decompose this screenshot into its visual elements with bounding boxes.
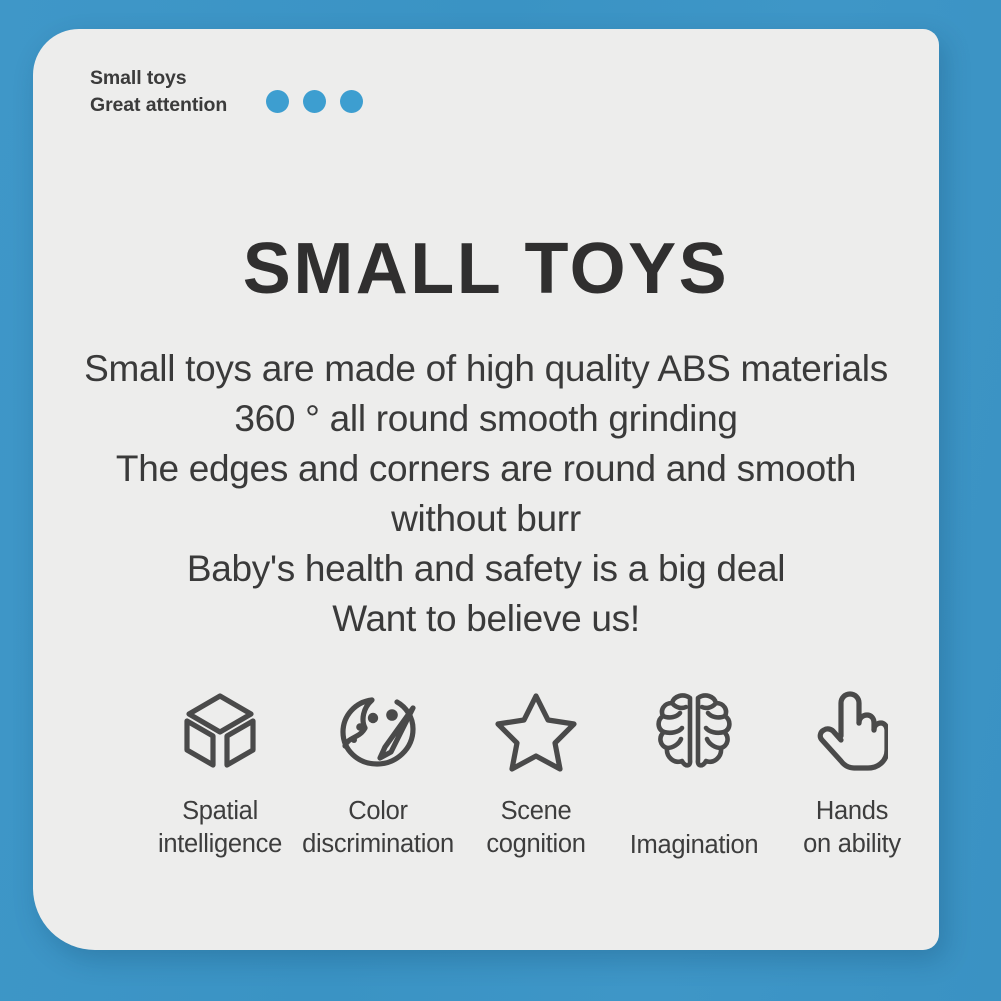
header-tagline: Small toys Great attention xyxy=(90,65,227,119)
feature-label-spatial-intelligence: Spatial intelligence xyxy=(158,795,282,861)
header-dots xyxy=(266,90,363,113)
feature-label-line1: Hands xyxy=(803,795,901,828)
description-line-4: without burr xyxy=(33,494,939,544)
feature-list: Spatial intelligence xyxy=(141,689,931,862)
feature-label-scene-cognition: Scene cognition xyxy=(486,795,585,861)
poster-canvas: Small toys Great attention SMALL TOYS Sm… xyxy=(0,0,1001,1001)
feature-label-color-discrimination: Color discrimination xyxy=(302,795,454,861)
feature-item-scene-cognition: Scene cognition xyxy=(457,689,615,861)
description-line-3: The edges and corners are round and smoo… xyxy=(33,444,939,494)
feature-label-line2: intelligence xyxy=(158,828,282,861)
star-icon xyxy=(493,689,579,773)
feature-item-hands-on-ability: Hands on ability xyxy=(773,689,931,861)
feature-label-line1: Color xyxy=(302,795,454,828)
description-block: Small toys are made of high quality ABS … xyxy=(33,344,939,644)
description-line-1: Small toys are made of high quality ABS … xyxy=(33,344,939,394)
feature-label-line2: on ability xyxy=(803,828,901,861)
content-card: Small toys Great attention SMALL TOYS Sm… xyxy=(33,29,939,950)
feature-item-color-discrimination: Color discrimination xyxy=(299,689,457,861)
description-line-6: Want to believe us! xyxy=(33,594,939,644)
header-tagline-line1: Small toys xyxy=(90,65,227,92)
card-header: Small toys Great attention xyxy=(90,65,363,119)
cube-icon xyxy=(179,689,261,773)
dot-3-icon xyxy=(340,90,363,113)
description-line-5: Baby's health and safety is a big deal xyxy=(33,544,939,594)
dot-1-icon xyxy=(266,90,289,113)
description-line-2: 360 ° all round smooth grinding xyxy=(33,394,939,444)
brain-icon xyxy=(655,689,733,773)
feature-label-line1: Scene xyxy=(486,795,585,828)
feature-label-imagination: Imagination xyxy=(630,829,759,862)
feature-item-spatial-intelligence: Spatial intelligence xyxy=(141,689,299,861)
header-tagline-line2: Great attention xyxy=(90,92,227,119)
feature-label-hands-on-ability: Hands on ability xyxy=(803,795,901,861)
feature-label-line1: Spatial xyxy=(158,795,282,828)
feature-label-line2: discrimination xyxy=(302,828,454,861)
feature-label-line1: Imagination xyxy=(630,829,759,862)
feature-label-line2: cognition xyxy=(486,828,585,861)
feature-item-imagination: Imagination xyxy=(615,689,773,862)
pointing-hand-icon xyxy=(816,689,888,773)
page-title: SMALL TOYS xyxy=(33,233,939,305)
dot-2-icon xyxy=(303,90,326,113)
palette-icon xyxy=(334,689,422,773)
